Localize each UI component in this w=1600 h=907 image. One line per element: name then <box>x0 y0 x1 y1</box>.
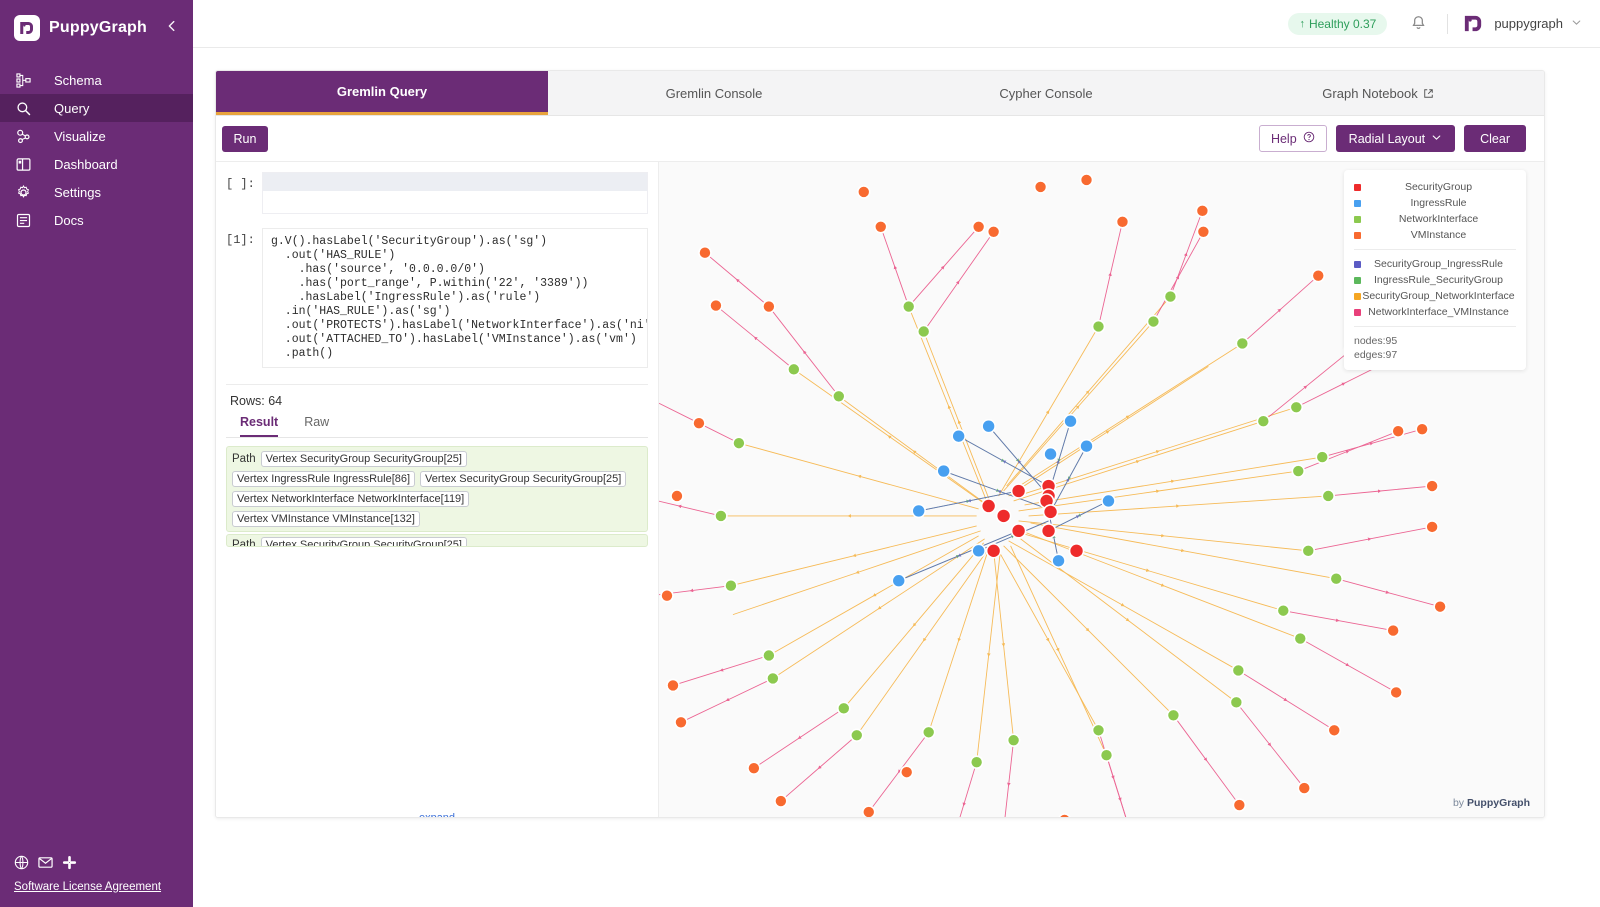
help-label: Help <box>1271 132 1297 146</box>
graph-canvas[interactable]: SecurityGroup IngressRule NetworkInterfa… <box>659 162 1544 817</box>
top-header: ↑ Healthy 0.37 puppygraph <box>193 0 1600 48</box>
external-link-icon <box>1423 88 1434 99</box>
tab-label: Cypher Console <box>999 86 1092 101</box>
legend-node-row[interactable]: IngressRule <box>1354 196 1516 210</box>
output-cell: [1]: g.V().hasLabel('SecurityGroup').as(… <box>216 214 658 368</box>
legend-swatch-ingressrule <box>1354 200 1361 207</box>
legend-swatch-networkinterface <box>1354 216 1361 223</box>
legend-node-row[interactable]: SecurityGroup <box>1354 180 1516 194</box>
legend-swatch-securitygroup-networkinterface <box>1354 293 1361 300</box>
sidebar: PuppyGraph Schema Query <box>0 0 193 907</box>
legend-swatch-ingressrule-securitygroup <box>1354 277 1361 284</box>
result-list: Path Vertex SecurityGroup SecurityGroup[… <box>226 437 648 817</box>
mail-icon[interactable] <box>38 855 53 870</box>
visualize-icon <box>14 127 32 145</box>
editor-blank-line <box>263 191 647 213</box>
legend-edge-row[interactable]: IngressRule_SecurityGroup <box>1354 273 1516 287</box>
legend-edge-count: edges:97 <box>1354 348 1516 362</box>
tab-gremlin-console[interactable]: Gremlin Console <box>548 71 880 115</box>
sidebar-item-visualize[interactable]: Visualize <box>0 122 193 150</box>
vertex-chip[interactable]: Vertex SecurityGroup SecurityGroup[25] <box>261 537 467 547</box>
tab-label: Gremlin Console <box>666 86 763 101</box>
legend-swatch-securitygroup <box>1354 184 1361 191</box>
legend-label: NetworkInterface <box>1361 213 1516 225</box>
search-icon <box>14 99 32 117</box>
watermark-prefix: by <box>1453 797 1467 809</box>
sidebar-item-schema[interactable]: Schema <box>0 66 193 94</box>
sidebar-item-query[interactable]: Query <box>0 94 193 122</box>
help-button[interactable]: Help <box>1259 125 1327 152</box>
legend-label: SecurityGroup_NetworkInterface <box>1361 290 1516 302</box>
query-toolbar: Run Help Radial Layout <box>216 116 1544 162</box>
legend-label: NetworkInterface_VMInstance <box>1361 306 1516 318</box>
health-text: Healthy 0.37 <box>1309 17 1376 31</box>
vertex-chip[interactable]: Vertex NetworkInterface NetworkInterface… <box>232 491 469 507</box>
path-label: Path <box>232 539 256 547</box>
legend-node-count: nodes:95 <box>1354 334 1516 348</box>
dashboard-icon <box>14 155 32 173</box>
query-code: g.V().hasLabel('SecurityGroup').as('sg')… <box>262 228 648 368</box>
header-divider <box>1447 14 1448 34</box>
sidebar-footer: Software License Agreement <box>14 855 161 893</box>
tab-result[interactable]: Result <box>240 415 278 437</box>
vertex-chip[interactable]: Vertex SecurityGroup SecurityGroup[25] <box>420 471 626 487</box>
list-item[interactable]: Path Vertex SecurityGroup SecurityGroup[… <box>226 534 648 547</box>
nodes-ingressrule <box>892 415 1115 587</box>
legend-edge-row[interactable]: SecurityGroup_NetworkInterface <box>1354 289 1516 303</box>
legend-label: VMInstance <box>1361 229 1516 241</box>
query-card: Gremlin Query Gremlin Console Cypher Con… <box>215 70 1545 818</box>
vertex-chip[interactable]: Vertex VMInstance VMInstance[132] <box>232 511 420 527</box>
list-item[interactable]: Path Vertex SecurityGroup SecurityGroup[… <box>226 446 648 532</box>
sidebar-item-label: Docs <box>54 213 84 228</box>
tab-label: Gremlin Query <box>337 84 427 99</box>
sidebar-item-label: Settings <box>54 185 101 200</box>
legend-node-row[interactable]: VMInstance <box>1354 228 1516 242</box>
tab-graph-notebook[interactable]: Graph Notebook <box>1212 71 1544 115</box>
bell-icon[interactable] <box>1401 15 1435 32</box>
input-cell: [ ]: <box>216 162 658 214</box>
sidebar-item-docs[interactable]: Docs <box>0 206 193 234</box>
legend-label: SecurityGroup_IngressRule <box>1361 258 1516 270</box>
legend-label: IngressRule <box>1361 197 1516 209</box>
path-label: Path <box>232 453 256 465</box>
legend-label: SecurityGroup <box>1361 181 1516 193</box>
brand-title: PuppyGraph <box>49 19 147 37</box>
result-tab-bar: Result Raw <box>226 408 648 437</box>
sidebar-item-label: Schema <box>54 73 102 88</box>
clear-button[interactable]: Clear <box>1464 125 1526 152</box>
user-menu[interactable]: puppygraph <box>1460 11 1582 37</box>
avatar-logo-icon <box>1460 11 1486 37</box>
layout-dropdown-button[interactable]: Radial Layout <box>1336 125 1455 152</box>
card-body: [ ]: [1]: g.V().hasLabel('SecurityGroup'… <box>216 162 1544 817</box>
legend-swatch-networkinterface-vminstance <box>1354 309 1361 316</box>
run-button[interactable]: Run <box>222 126 268 152</box>
docs-icon <box>14 211 32 229</box>
software-license-agreement-link[interactable]: Software License Agreement <box>14 881 161 893</box>
chevron-down-icon <box>1431 132 1442 146</box>
tab-raw[interactable]: Raw <box>304 415 329 437</box>
graph-legend: SecurityGroup IngressRule NetworkInterfa… <box>1344 170 1526 370</box>
tab-label: Graph Notebook <box>1322 86 1417 101</box>
tab-bar: Gremlin Query Gremlin Console Cypher Con… <box>216 71 1544 116</box>
layout-label: Radial Layout <box>1349 132 1425 146</box>
query-input[interactable] <box>262 172 648 214</box>
sidebar-item-settings[interactable]: Settings <box>0 178 193 206</box>
rows-count: Rows: 64 <box>226 385 648 408</box>
app-root: PuppyGraph Schema Query <box>0 0 1600 907</box>
legend-edge-row[interactable]: SecurityGroup_IngressRule <box>1354 257 1516 271</box>
sidebar-item-label: Visualize <box>54 129 106 144</box>
slack-icon[interactable] <box>62 855 77 870</box>
gear-icon <box>14 183 32 201</box>
arrow-up-icon: ↑ <box>1299 18 1305 30</box>
expand-link[interactable]: expand <box>226 812 648 818</box>
graph-nodes <box>661 174 1446 817</box>
legend-divider <box>1354 249 1516 250</box>
sidebar-collapse-chevron-left-icon[interactable] <box>163 17 181 35</box>
sidebar-item-label: Query <box>54 101 89 116</box>
legend-divider <box>1354 326 1516 327</box>
sidebar-nav: Schema Query Visualize Dashboard <box>0 66 193 234</box>
chevron-down-icon <box>1571 17 1582 31</box>
workspace: Gremlin Query Gremlin Console Cypher Con… <box>193 48 1600 907</box>
legend-swatch-vminstance <box>1354 232 1361 239</box>
puppygraph-logo-icon <box>14 15 40 41</box>
vertex-chip[interactable]: Vertex IngressRule IngressRule[86] <box>232 471 415 487</box>
tab-gremlin-query[interactable]: Gremlin Query <box>216 71 548 115</box>
sidebar-brand: PuppyGraph <box>0 0 193 56</box>
legend-label: IngressRule_SecurityGroup <box>1361 274 1516 286</box>
legend-node-row[interactable]: NetworkInterface <box>1354 212 1516 226</box>
user-name: puppygraph <box>1494 16 1563 31</box>
sidebar-item-dashboard[interactable]: Dashboard <box>0 150 193 178</box>
console-panel: [ ]: [1]: g.V().hasLabel('SecurityGroup'… <box>216 162 659 817</box>
watermark-brand: PuppyGraph <box>1467 797 1530 809</box>
legend-swatch-securitygroup-ingressrule <box>1354 261 1361 268</box>
main-area: ↑ Healthy 0.37 puppygraph <box>193 0 1600 907</box>
results-panel: Rows: 64 Result Raw Path Vertex Security… <box>226 384 648 817</box>
status-badge-health[interactable]: ↑ Healthy 0.37 <box>1288 13 1387 35</box>
input-prompt: [ ]: <box>226 172 262 214</box>
output-prompt: [1]: <box>226 228 262 368</box>
legend-edge-row[interactable]: NetworkInterface_VMInstance <box>1354 305 1516 319</box>
help-circle-icon <box>1303 131 1315 146</box>
tab-cypher-console[interactable]: Cypher Console <box>880 71 1212 115</box>
editor-active-line <box>263 173 647 191</box>
vertex-chip[interactable]: Vertex SecurityGroup SecurityGroup[25] <box>261 451 467 467</box>
globe-icon[interactable] <box>14 855 29 870</box>
schema-icon <box>14 71 32 89</box>
sidebar-item-label: Dashboard <box>54 157 118 172</box>
watermark: by PuppyGraph <box>1453 797 1530 809</box>
